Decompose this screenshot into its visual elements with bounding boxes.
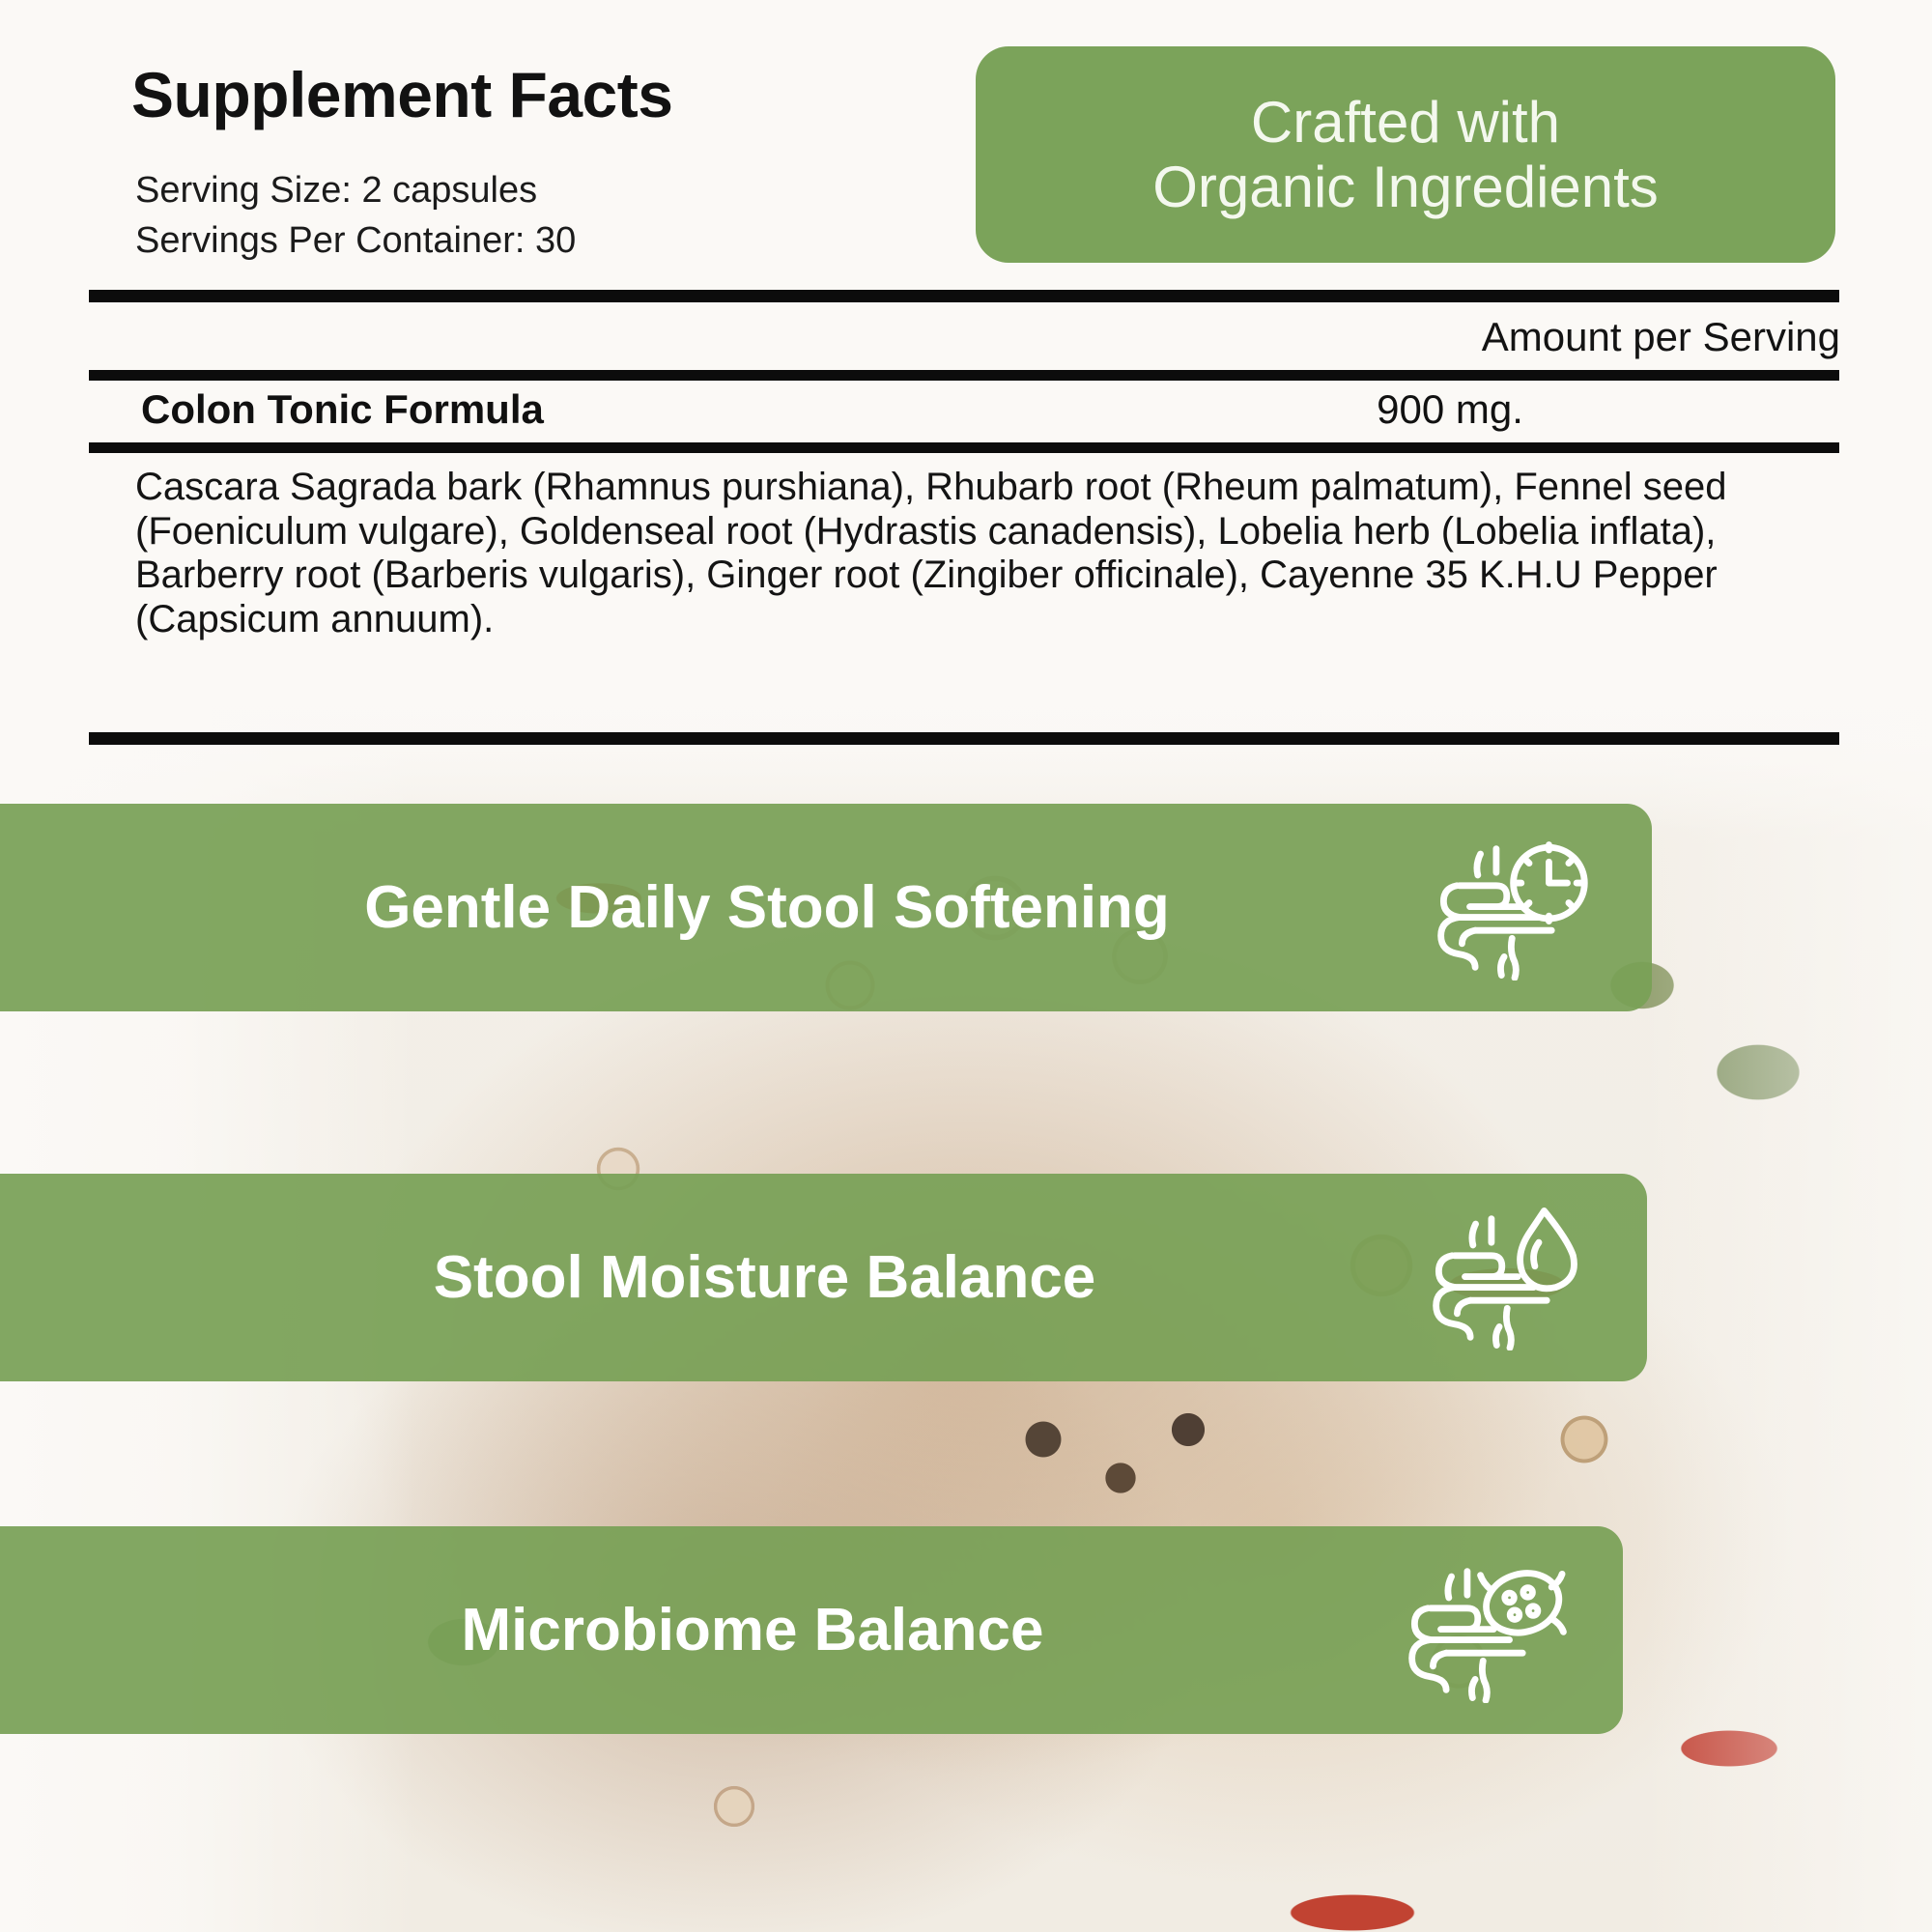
page-title: Supplement Facts bbox=[131, 58, 672, 131]
intestine-microbes-icon bbox=[1389, 1558, 1582, 1703]
benefit-label-2: Stool Moisture Balance bbox=[0, 1243, 1413, 1312]
table-rule-bottom bbox=[89, 732, 1839, 745]
benefit-label-3: Microbiome Balance bbox=[0, 1596, 1389, 1664]
serving-size-text: Serving Size: 2 capsules bbox=[135, 170, 537, 212]
table-rule-under-header bbox=[89, 370, 1839, 381]
table-rule-top bbox=[89, 290, 1839, 302]
supplement-facts-panel: Supplement Facts Serving Size: 2 capsule… bbox=[0, 0, 1932, 773]
organic-badge-line-2: Organic Ingredients bbox=[1152, 155, 1659, 219]
benefit-label-1: Gentle Daily Stool Softening bbox=[0, 873, 1418, 942]
table-rule-under-row bbox=[89, 442, 1839, 453]
benefit-banner-1: Gentle Daily Stool Softening bbox=[0, 804, 1652, 1011]
amount-per-serving-header: Amount per Serving bbox=[1482, 314, 1840, 360]
organic-badge-line-1: Crafted with bbox=[1251, 90, 1560, 155]
intestine-droplet-icon bbox=[1413, 1206, 1606, 1350]
benefit-banner-2: Stool Moisture Balance bbox=[0, 1174, 1647, 1381]
photo-right-fade bbox=[1642, 667, 1932, 1932]
intestine-clock-icon bbox=[1418, 836, 1611, 980]
organic-ingredients-badge: Crafted with Organic Ingredients bbox=[976, 46, 1835, 263]
table-row-name: Colon Tonic Formula bbox=[141, 386, 544, 433]
ingredients-paragraph: Cascara Sagrada bark (Rhamnus purshiana)… bbox=[135, 466, 1816, 641]
servings-per-container-text: Servings Per Container: 30 bbox=[135, 220, 576, 262]
supplement-label-page: Supplement Facts Serving Size: 2 capsule… bbox=[0, 0, 1932, 1932]
table-row-amount: 900 mg. bbox=[1294, 386, 1605, 433]
benefit-banner-3: Microbiome Balance bbox=[0, 1526, 1623, 1734]
